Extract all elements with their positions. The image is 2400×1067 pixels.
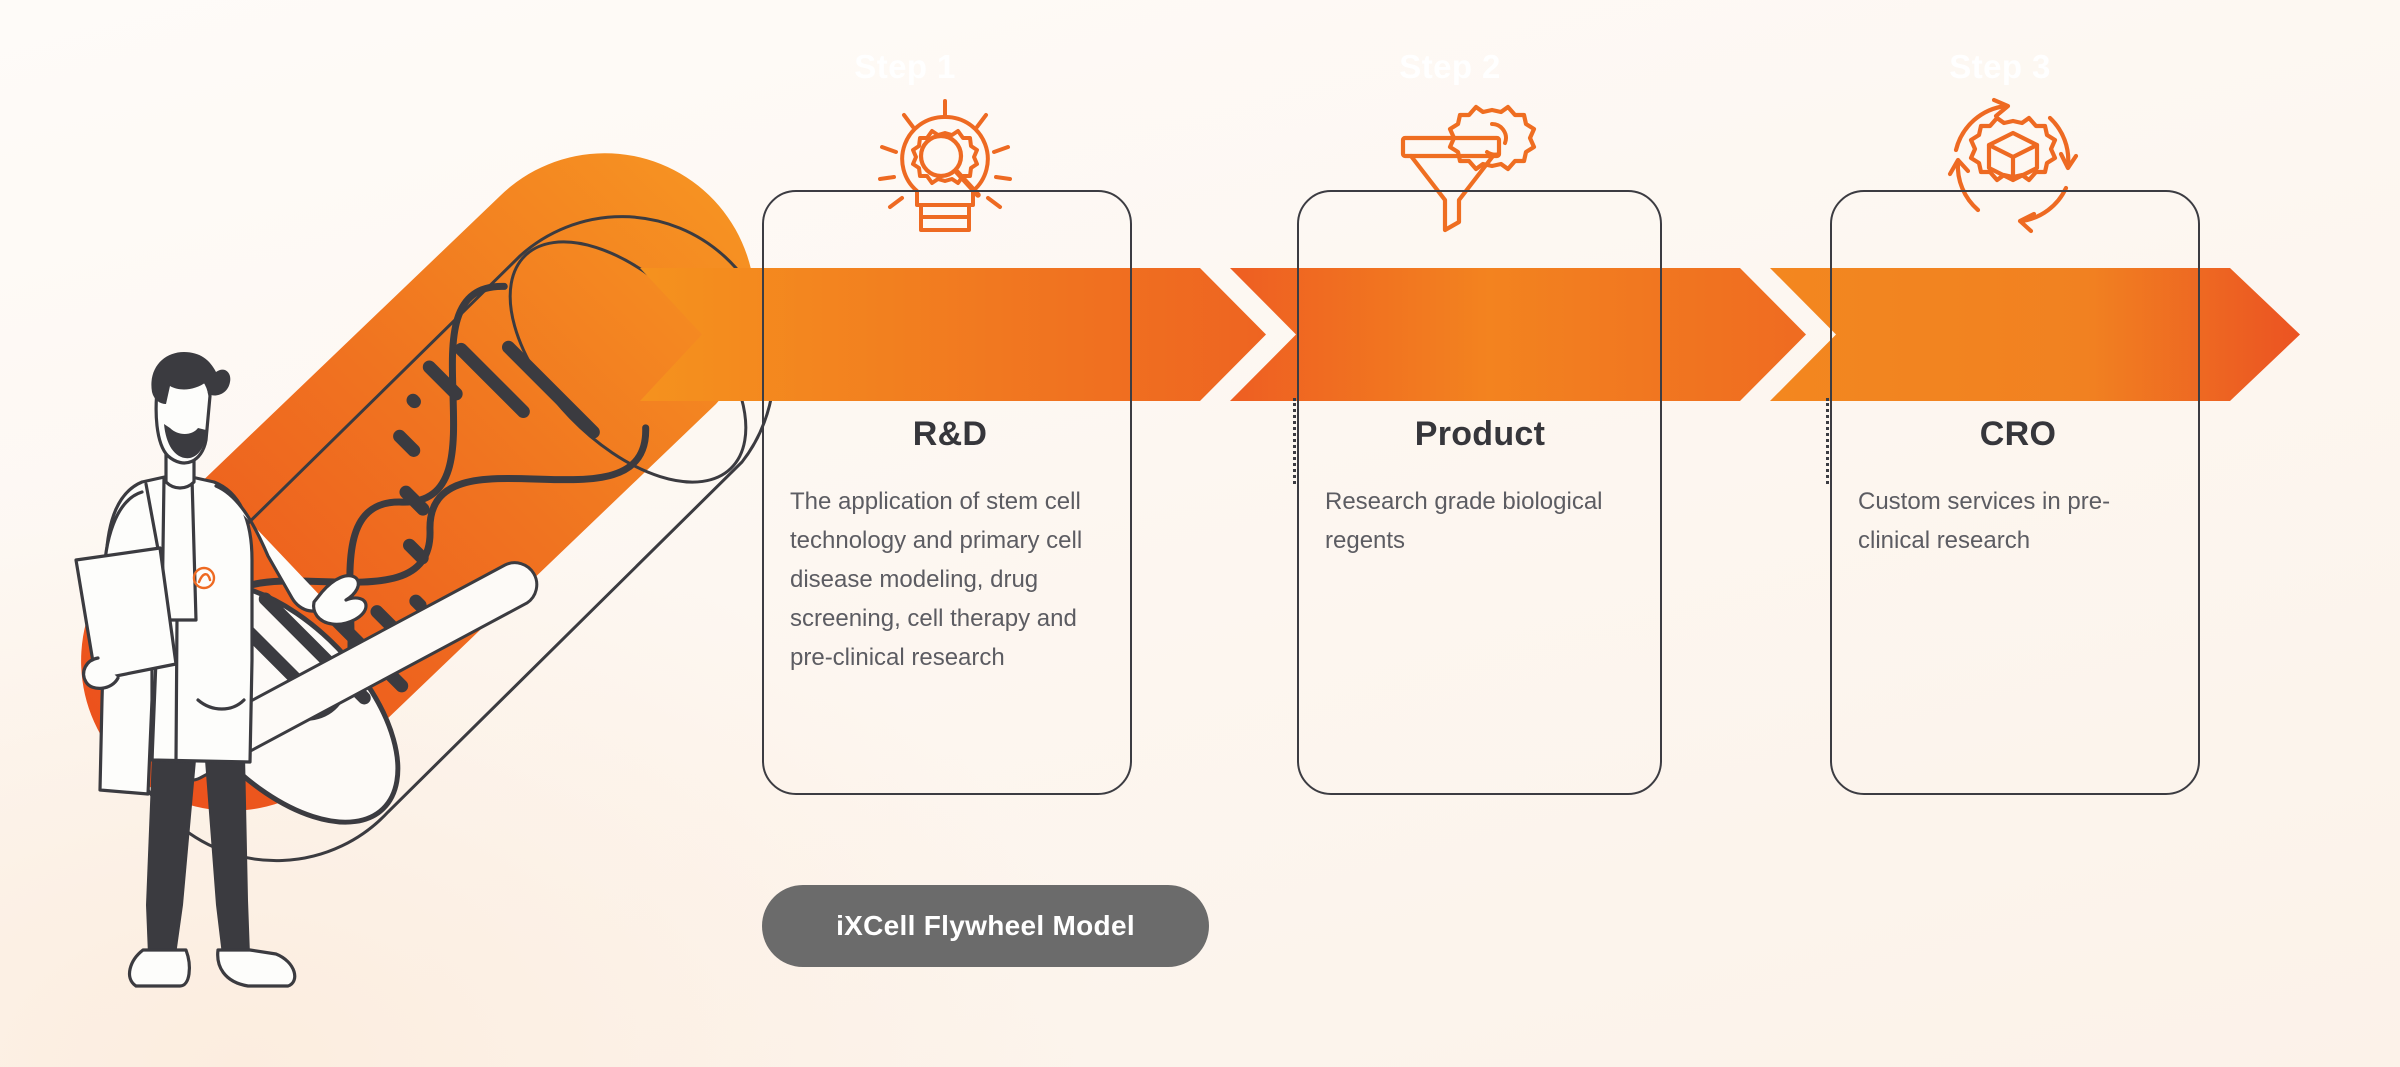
column-body-2: Research grade biological regents bbox=[1325, 482, 1635, 560]
dotted-separator-1 bbox=[1293, 398, 1296, 484]
column-title-3: CRO bbox=[1858, 415, 2178, 454]
pointer-rod bbox=[168, 563, 537, 781]
column-1: R&D The application of stem cell technol… bbox=[790, 415, 1110, 677]
scientist-dna-illustration bbox=[0, 0, 820, 1067]
dotted-separator-2 bbox=[1826, 398, 1829, 484]
dna-helix bbox=[174, 275, 657, 758]
column-3: CRO Custom services in pre-clinical rese… bbox=[1858, 415, 2178, 560]
flywheel-model-badge[interactable]: iXCell Flywheel Model bbox=[762, 885, 1209, 967]
column-body-1: The application of stem cell technology … bbox=[790, 482, 1110, 677]
column-2: Product Research grade biological regent… bbox=[1325, 415, 1635, 560]
flywheel-model-badge-label: iXCell Flywheel Model bbox=[836, 910, 1135, 942]
scientist-figure bbox=[76, 352, 366, 986]
column-body-3: Custom services in pre-clinical research bbox=[1858, 482, 2178, 560]
orange-capsule-blob bbox=[81, 153, 755, 811]
column-title-1: R&D bbox=[790, 415, 1110, 454]
capsule-front-cap bbox=[123, 544, 438, 862]
column-title-2: Product bbox=[1325, 415, 1635, 454]
infographic-canvas: Step 1 Step 2 Step 3 bbox=[0, 0, 2400, 1067]
